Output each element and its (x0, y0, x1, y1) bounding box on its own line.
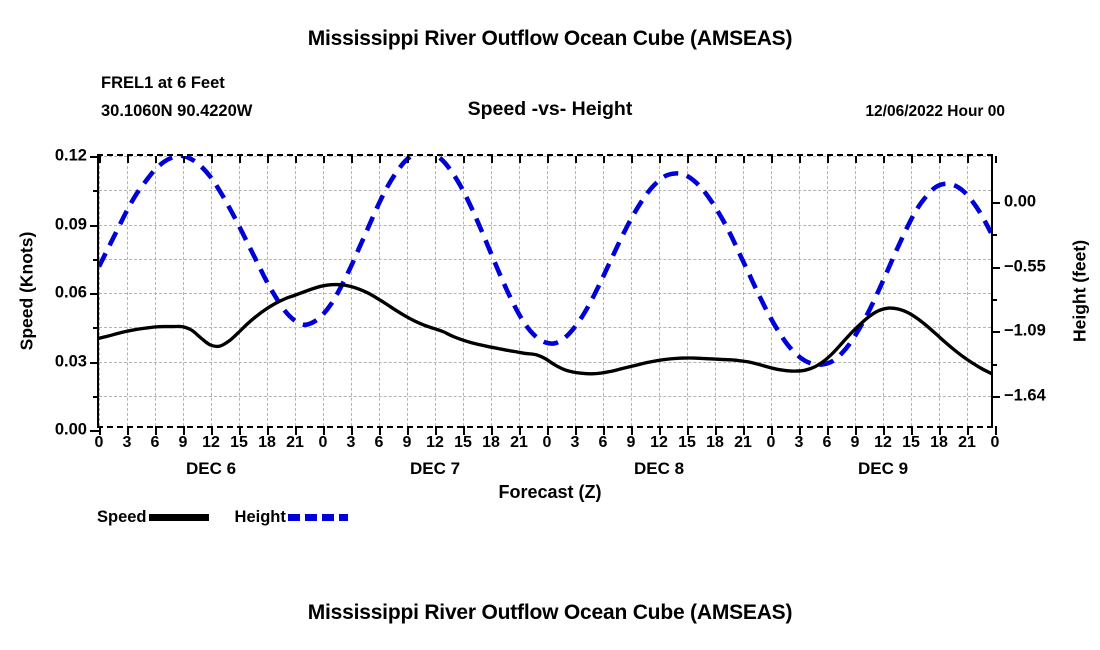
x-tick-label: 9 (627, 434, 636, 452)
tick-top (239, 156, 241, 163)
x-tick-label: 9 (851, 434, 860, 452)
tick-top (547, 156, 549, 163)
tick-top (155, 156, 157, 163)
y-tick-label-right: −1.09 (1004, 321, 1046, 340)
legend-label-height: Height (235, 508, 286, 527)
tick-top (855, 156, 857, 163)
tick-left-major (90, 430, 99, 432)
x-tick-label: 21 (286, 434, 304, 452)
tick-left-minor (93, 396, 99, 398)
x-tick-label: 0 (991, 434, 1000, 452)
tick-top (883, 156, 885, 163)
tick-right-minor (991, 234, 997, 236)
speed-series-line (99, 285, 991, 374)
x-tick-label: 15 (678, 434, 696, 452)
tick-right-minor (991, 299, 997, 301)
x-tick-label: 21 (958, 434, 976, 452)
x-tick-label: 0 (319, 434, 328, 452)
legend-swatch-height (288, 514, 348, 521)
tick-top (519, 156, 521, 163)
page-title-top: Mississippi River Outflow Ocean Cube (AM… (0, 27, 1100, 51)
tick-top (911, 156, 913, 163)
x-tick-label: 0 (767, 434, 776, 452)
tick-top (687, 156, 689, 163)
tick-left-major (90, 156, 99, 158)
x-tick-label: 6 (599, 434, 608, 452)
chart-legend: Speed Height (97, 508, 348, 527)
y-tick-label-left: 0.00 (55, 421, 87, 440)
tick-top (575, 156, 577, 163)
x-tick-label: 9 (179, 434, 188, 452)
tick-right-major (991, 267, 1000, 269)
tick-left-major (90, 293, 99, 295)
legend-item-speed: Speed (97, 508, 209, 527)
y-tick-label-left: 0.03 (55, 352, 87, 371)
x-tick-label: 12 (874, 434, 892, 452)
tick-left-minor (93, 259, 99, 261)
tick-top (267, 156, 269, 163)
tick-left-minor (93, 190, 99, 192)
x-tick-label: 0 (95, 434, 104, 452)
legend-label-speed: Speed (97, 508, 147, 527)
x-tick-label: 15 (902, 434, 920, 452)
tick-top (323, 156, 325, 163)
x-day-label: DEC 9 (858, 459, 908, 479)
tick-top (743, 156, 745, 163)
legend-swatch-speed (149, 514, 209, 521)
x-tick-label: 3 (571, 434, 580, 452)
tick-left-major (90, 225, 99, 227)
tick-top (99, 156, 101, 163)
legend-item-height: Height (235, 508, 348, 527)
y-tick-label-left: 0.12 (55, 147, 87, 166)
tick-right-minor (991, 364, 997, 366)
tick-left-major (90, 362, 99, 364)
tick-top (491, 156, 493, 163)
x-tick-label: 6 (375, 434, 384, 452)
x-tick-label: 6 (823, 434, 832, 452)
x-tick-label: 15 (230, 434, 248, 452)
x-tick-label: 18 (482, 434, 500, 452)
x-tick-label: 18 (258, 434, 276, 452)
tick-top (379, 156, 381, 163)
x-tick-label: 12 (426, 434, 444, 452)
x-tick-label: 21 (734, 434, 752, 452)
y-axis-title-left: Speed (Knots) (17, 232, 38, 351)
y-tick-label-left: 0.06 (55, 284, 87, 303)
x-day-label: DEC 6 (186, 459, 236, 479)
x-tick-label: 18 (706, 434, 724, 452)
x-axis-title: Forecast (Z) (0, 482, 1100, 503)
tick-top (603, 156, 605, 163)
x-tick-label: 3 (123, 434, 132, 452)
tick-top (183, 156, 185, 163)
tick-top (631, 156, 633, 163)
tick-top (771, 156, 773, 163)
x-tick-label: 12 (202, 434, 220, 452)
y-axis-title-right: Height (feet) (1070, 240, 1091, 342)
tick-top (127, 156, 129, 163)
x-tick-label: 3 (347, 434, 356, 452)
run-datetime-label: 12/06/2022 Hour 00 (865, 103, 1005, 121)
chart-plot-inner (99, 156, 991, 426)
x-tick-label: 12 (650, 434, 668, 452)
tick-top (939, 156, 941, 163)
tick-top (827, 156, 829, 163)
tick-top (435, 156, 437, 163)
x-tick-label: 18 (930, 434, 948, 452)
x-tick-label: 3 (795, 434, 804, 452)
station-label: FREL1 at 6 Feet (101, 74, 225, 93)
page-title-bottom: Mississippi River Outflow Ocean Cube (AM… (0, 601, 1100, 625)
height-series-line (99, 156, 991, 365)
tick-right-major (991, 396, 1000, 398)
y-tick-label-right: −1.64 (1004, 386, 1046, 405)
x-tick-label: 9 (403, 434, 412, 452)
tick-top (407, 156, 409, 163)
tick-top (715, 156, 717, 163)
x-day-label: DEC 8 (634, 459, 684, 479)
x-tick-label: 6 (151, 434, 160, 452)
tick-top (211, 156, 213, 163)
tick-top (463, 156, 465, 163)
tick-top (995, 156, 997, 163)
x-tick-label: 15 (454, 434, 472, 452)
tick-top (967, 156, 969, 163)
y-tick-label-right: −0.55 (1004, 258, 1046, 277)
tick-top (295, 156, 297, 163)
tick-top (799, 156, 801, 163)
y-tick-label-left: 0.09 (55, 215, 87, 234)
tick-left-minor (93, 327, 99, 329)
x-day-label: DEC 7 (410, 459, 460, 479)
x-tick-label: 0 (543, 434, 552, 452)
tick-right-major (991, 202, 1000, 204)
series-plot (99, 156, 991, 426)
tick-top (659, 156, 661, 163)
x-tick-label: 21 (510, 434, 528, 452)
chart-plot-area: 0369121518210369121518210369121518210369… (97, 154, 993, 428)
tick-right-major (991, 331, 1000, 333)
y-tick-label-right: 0.00 (1004, 193, 1036, 212)
tick-top (351, 156, 353, 163)
